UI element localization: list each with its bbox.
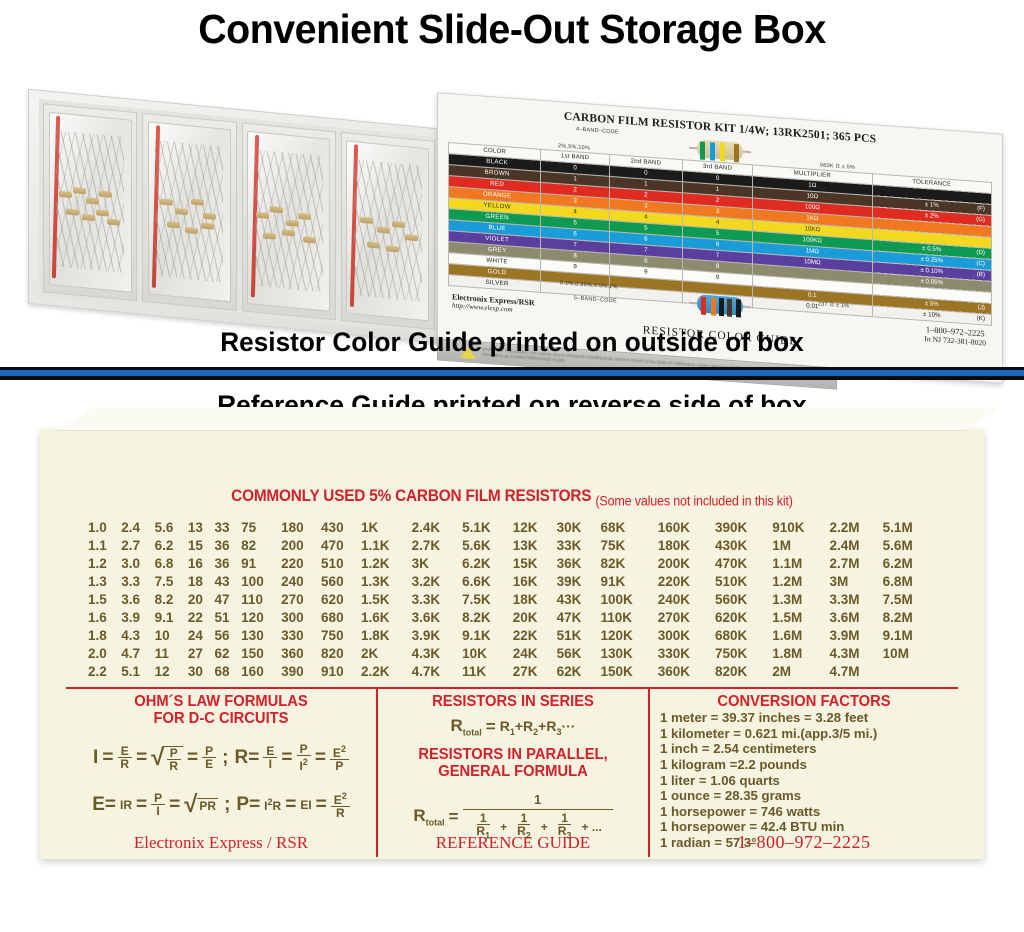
box-top-edge — [56, 407, 1002, 431]
resistor-value: 22K — [513, 626, 557, 644]
resistor-value: 1.8K — [361, 626, 412, 644]
resistor-value: 1.6M — [772, 626, 829, 644]
conversion-item: 1 horsepower = 746 watts — [660, 804, 950, 820]
series-title: RESISTORS IN SERIES — [392, 693, 633, 710]
value-row: 1.33.37.518431002405601.3K3.2K6.6K16K39K… — [88, 572, 936, 590]
row-tolerance-letter: (B) — [977, 270, 985, 281]
resistor-value: 43 — [215, 572, 242, 590]
resistor-value: 13 — [188, 518, 215, 536]
resistor-value: 300 — [281, 608, 321, 626]
row-tolerance-letter: (C) — [976, 259, 985, 270]
resistor-value: 3K — [412, 554, 463, 572]
resistor-value: 430K — [715, 536, 772, 554]
value-row: 1.02.45.61333751804301K2.4K5.1K12K30K68K… — [88, 518, 936, 536]
resistor-value: 910K — [772, 518, 829, 536]
ohms-law-title-1: OHM´S LAW FORMULAS — [81, 693, 360, 710]
resistor-value: 2.4M — [829, 536, 882, 554]
resistor-value: 18K — [513, 590, 557, 608]
resistor-value: 4.7K — [412, 662, 463, 680]
resistor-value: 3.9K — [412, 626, 463, 644]
resistor-value: 4.7M — [829, 662, 882, 680]
resistor-value: 300K — [658, 626, 715, 644]
resistor-value: 20K — [513, 608, 557, 626]
row-tolerance-letter: (G) — [976, 215, 985, 226]
conversion-item: 1 meter = 39.37 inches = 3.28 feet — [660, 710, 950, 726]
resistor-value: 180K — [658, 536, 715, 554]
resistor-value: 2.2M — [829, 518, 882, 536]
resistor-value: 390 — [281, 662, 321, 680]
resistor-value: 1.1M — [772, 554, 829, 572]
conversions-list: 1 meter = 39.37 inches = 3.28 feet1 kilo… — [658, 710, 950, 850]
resistor-value: 3M — [829, 572, 882, 590]
resistor-value: 12 — [155, 662, 188, 680]
resistor-value: 2.4 — [121, 518, 154, 536]
conversion-item: 1 inch = 2.54 centimeters — [660, 741, 950, 757]
resistor-value: 3.2K — [412, 572, 463, 590]
resistor-value: 3.9 — [121, 608, 154, 626]
resistor-value: 200 — [281, 536, 321, 554]
resistor-value: 2.4K — [412, 518, 463, 536]
resistor-value: 1.1K — [361, 536, 412, 554]
parallel-title-2: GENERAL FORMULA — [392, 763, 633, 780]
resistor-value: 3.6 — [121, 590, 154, 608]
formula-panels: OHM´S LAW FORMULAS FOR D-C CIRCUITS I= E… — [66, 689, 958, 857]
resistor-value: 3.6K — [412, 608, 463, 626]
resistor-value: 160K — [658, 518, 715, 536]
row-tolerance-letter: (F) — [977, 204, 985, 215]
resistor-value: 3.6M — [829, 608, 882, 626]
resistor-value: 51 — [215, 608, 242, 626]
resistor-value: 1.0 — [88, 518, 121, 536]
resistor-value: 11K — [462, 662, 513, 680]
reference-title-main: COMMONLY USED 5% CARBON FILM RESISTORS — [231, 487, 591, 505]
resistor-value: 33 — [215, 518, 242, 536]
resistor-value: 1K — [361, 518, 412, 536]
resistor-cluster — [353, 213, 423, 268]
caption-top: Resistor Color Guide printed on outside … — [15, 327, 1008, 358]
conversions-title: CONVERSION FACTORS — [665, 693, 942, 710]
resistor-value: 330K — [658, 644, 715, 662]
resistor-value: 15 — [188, 536, 215, 554]
resistor-value: 120 — [241, 608, 281, 626]
resistor-value: 56K — [557, 644, 601, 662]
resistor-value: 6.8M — [883, 572, 936, 590]
resistor-value: 4.7 — [121, 644, 154, 662]
resistor-value: 6.2M — [883, 554, 936, 572]
resistor-value: 750 — [321, 626, 361, 644]
resistor-value: 2.7K — [412, 536, 463, 554]
resistor-value: 560K — [715, 590, 772, 608]
resistor-value: 2.7M — [829, 554, 882, 572]
resistor-value: 6.6K — [462, 572, 513, 590]
ohms-law-equation-2: E=IR= PI = √PR ; P=I2R=EI= E2R — [74, 790, 368, 819]
resistor-value: 9.1 — [155, 608, 188, 626]
resistor-value: 43K — [557, 590, 601, 608]
row-tolerance-letter: (D) — [976, 248, 985, 259]
resistor-value: 30 — [188, 662, 215, 680]
conversion-item: 1 ounce = 28.35 grams — [660, 788, 950, 804]
resistor-value: 2.7 — [121, 536, 154, 554]
resistor-value: 680K — [715, 626, 772, 644]
resistor-value: 240K — [658, 590, 715, 608]
resistor-4band-icon — [689, 137, 751, 164]
panel-ohms-law: OHM´S LAW FORMULAS FOR D-C CIRCUITS I= E… — [66, 689, 376, 857]
resistor-value: 390K — [715, 518, 772, 536]
resistor-value: 270 — [281, 590, 321, 608]
resistor-value: 91K — [601, 572, 658, 590]
resistor-value: 1M — [772, 536, 829, 554]
resistor-cluster — [254, 203, 324, 258]
value-row: 2.04.71127621503608202K4.3K10K24K56K130K… — [88, 644, 936, 662]
resistor-value: 12K — [513, 518, 557, 536]
storage-tray — [28, 89, 448, 344]
resistor-value: 36 — [215, 554, 242, 572]
tray-compartments — [39, 99, 439, 335]
ohms-law-equation-1: I= ER = √PR = PE ; R= EI = PI2 = E2P — [74, 743, 368, 772]
resistor-value: 91 — [241, 554, 281, 572]
conversion-item: 1 kilogram =2.2 pounds — [660, 757, 950, 773]
resistor-value: 47K — [557, 608, 601, 626]
resistor-value: 620 — [321, 590, 361, 608]
resistor-value: 39K — [557, 572, 601, 590]
resistor-value: 130 — [241, 626, 281, 644]
resistor-value: 820K — [715, 662, 772, 680]
conversion-item: 1 kilometer = 0.621 mi.(app.3/5 mi.) — [660, 726, 950, 742]
resistor-value: 150 — [241, 644, 281, 662]
value-row: 1.12.76.21536822004701.1K2.7K5.6K13K33K7… — [88, 536, 936, 554]
page-title: Convenient Slide-Out Storage Box — [20, 0, 1003, 53]
resistor-value: 9.1M — [883, 626, 936, 644]
resistor-value: 680 — [321, 608, 361, 626]
resistor-value: 9.1K — [462, 626, 513, 644]
resistor-value: 62 — [215, 644, 242, 662]
ohms-law-title-2: FOR D-C CIRCUITS — [81, 710, 360, 727]
resistor-value: 33K — [557, 536, 601, 554]
resistor-value: 75K — [601, 536, 658, 554]
resistor-value: 7.5K — [462, 590, 513, 608]
resistor-value: 27K — [513, 662, 557, 680]
resistor-value: 5.6 — [155, 518, 188, 536]
resistor-value: 3.9M — [829, 626, 882, 644]
resistor-value: 24K — [513, 644, 557, 662]
value-row: 1.84.31024561303307501.8K3.9K9.1K22K51K1… — [88, 626, 936, 644]
brand-name: Electronix Express/RSR http://www.elexp.… — [452, 292, 535, 315]
parallel-title-1: RESISTORS IN PARALLEL, — [392, 746, 633, 763]
resistor-value: 1.6 — [88, 608, 121, 626]
resistor-value: 47 — [215, 590, 242, 608]
resistor-value: 20 — [188, 590, 215, 608]
resistor-value: 27 — [188, 644, 215, 662]
resistor-value: 3.3 — [121, 572, 154, 590]
resistor-value: 1.8M — [772, 644, 829, 662]
conversion-item: 1 liter = 1.06 quarts — [660, 773, 950, 789]
resistor-value: 180 — [281, 518, 321, 536]
resistor-value: 68 — [215, 662, 242, 680]
resistor-value: 4.3M — [829, 644, 882, 662]
resistor-value: 1.5M — [772, 608, 829, 626]
resistor-value: 4.3 — [121, 626, 154, 644]
resistor-value: 910 — [321, 662, 361, 680]
resistor-value: 30K — [557, 518, 601, 536]
tray-compartment — [43, 103, 137, 301]
reference-title-note: (Some values not included in this kit) — [595, 493, 792, 508]
resistor-value: 2.2 — [88, 662, 121, 680]
four-band-code-label: 4–BAND–CODE — [576, 126, 619, 135]
resistor-value: 2M — [772, 662, 829, 680]
resistor-value: 360 — [281, 644, 321, 662]
resistor-value: 2K — [361, 644, 412, 662]
resistor-value — [883, 662, 936, 680]
resistor-value: 18 — [188, 572, 215, 590]
resistor-value: 430 — [321, 518, 361, 536]
resistor-cluster — [154, 193, 224, 248]
reference-guide-title: COMMONLY USED 5% CARBON FILM RESISTORS (… — [97, 487, 927, 508]
resistor-value: 2.0 — [88, 644, 121, 662]
resistor-value: 110 — [241, 590, 281, 608]
resistor-value: 1.5 — [88, 590, 121, 608]
resistor-value: 130K — [601, 644, 658, 662]
conversions-footer-phone: 1–800–972–2225 — [650, 832, 958, 853]
ohms-law-footer: Electronix Express / RSR — [66, 833, 376, 853]
resistor-value: 36 — [215, 536, 242, 554]
resistor-value: 22 — [188, 608, 215, 626]
resistor-value: 820 — [321, 644, 361, 662]
resistor-value: 100K — [601, 590, 658, 608]
parallel-footer: REFERENCE GUIDE — [378, 833, 648, 853]
resistor-value: 5.6M — [883, 536, 936, 554]
panel-series-parallel: RESISTORS IN SERIES Rtotal= R1+R2+R3··· … — [376, 689, 648, 857]
resistor-value: 150K — [601, 662, 658, 680]
resistor-value: 470K — [715, 554, 772, 572]
resistor-value: 3.3M — [829, 590, 882, 608]
tray-compartment — [341, 132, 435, 330]
resistor-value: 200K — [658, 554, 715, 572]
resistor-value: 270K — [658, 608, 715, 626]
resistor-value: 5.1 — [121, 662, 154, 680]
resistor-value: 330 — [281, 626, 321, 644]
resistor-value: 8.2K — [462, 608, 513, 626]
resistor-value: 6.8 — [155, 554, 188, 572]
resistor-value: 15K — [513, 554, 557, 572]
resistor-value: 1.5K — [361, 590, 412, 608]
series-formula: Rtotal= R1+R2+R3··· — [386, 716, 640, 737]
resistor-value: 10K — [462, 644, 513, 662]
tray-compartment — [242, 122, 336, 320]
resistor-cluster — [55, 184, 125, 239]
resistor-value: 100 — [241, 572, 281, 590]
resistor-value: 3.0 — [121, 554, 154, 572]
resistor-value: 1.2K — [361, 554, 412, 572]
resistor-value: 5.6K — [462, 536, 513, 554]
resistor-value: 75 — [241, 518, 281, 536]
resistor-value: 8.2M — [883, 608, 936, 626]
resistor-value: 5.1K — [462, 518, 513, 536]
value-row: 2.25.11230681603909102.2K4.7K11K27K62K15… — [88, 662, 936, 680]
resistor-value: 1.8 — [88, 626, 121, 644]
resistor-value: 82 — [241, 536, 281, 554]
resistor-value: 220 — [281, 554, 321, 572]
resistor-value: 470 — [321, 536, 361, 554]
panel-conversions: CONVERSION FACTORS 1 meter = 39.37 inche… — [648, 689, 958, 857]
resistor-value: 51K — [557, 626, 601, 644]
tray-compartment — [142, 113, 236, 311]
resistor-value: 5.1M — [883, 518, 936, 536]
resistor-value: 6.2K — [462, 554, 513, 572]
resistor-value: 7.5 — [155, 572, 188, 590]
value-row: 1.53.68.220471102706201.5K3.3K7.5K18K43K… — [88, 590, 936, 608]
resistor-value: 110K — [601, 608, 658, 626]
resistor-value: 120K — [601, 626, 658, 644]
resistor-value: 1.2M — [772, 572, 829, 590]
resistor-value: 560 — [321, 572, 361, 590]
resistor-value: 1.2 — [88, 554, 121, 572]
resistor-value: 160 — [241, 662, 281, 680]
resistor-value: 1.3 — [88, 572, 121, 590]
resistor-value: 56 — [215, 626, 242, 644]
resistor-value: 10M — [883, 644, 936, 662]
resistor-value: 62K — [557, 662, 601, 680]
reference-guide-box: COMMONLY USED 5% CARBON FILM RESISTORS (… — [40, 429, 984, 859]
resistor-value: 3.3K — [412, 590, 463, 608]
resistor-value: 68K — [601, 518, 658, 536]
resistor-value: 620K — [715, 608, 772, 626]
resistor-value: 16 — [188, 554, 215, 572]
section-divider — [0, 367, 1024, 380]
resistor-value: 24 — [188, 626, 215, 644]
resistor-value: 750K — [715, 644, 772, 662]
resistor-value: 7.5M — [883, 590, 936, 608]
resistor-value: 36K — [557, 554, 601, 572]
resistor-values-table: 1.02.45.61333751804301K2.4K5.1K12K30K68K… — [88, 518, 936, 680]
resistor-value: 360K — [658, 662, 715, 680]
product-photo-top: CARBON FILM RESISTOR KIT 1/4W; 13RK2501;… — [0, 57, 1024, 327]
resistor-value: 1.1 — [88, 536, 121, 554]
resistor-value: 10 — [155, 626, 188, 644]
resistor-value: 510 — [321, 554, 361, 572]
resistor-value: 16K — [513, 572, 557, 590]
value-row: 1.63.99.122511203006801.6K3.6K8.2K20K47K… — [88, 608, 936, 626]
resistor-value: 240 — [281, 572, 321, 590]
resistor-value: 4.3K — [412, 644, 463, 662]
values-body: 1.02.45.61333751804301K2.4K5.1K12K30K68K… — [88, 518, 936, 680]
resistor-value: 82K — [601, 554, 658, 572]
value-row: 1.23.06.81636912205101.2K3K6.2K15K36K82K… — [88, 554, 936, 572]
resistor-value: 510K — [715, 572, 772, 590]
resistor-value: 220K — [658, 572, 715, 590]
resistor-value: 1.3K — [361, 572, 412, 590]
resistor-value: 13K — [513, 536, 557, 554]
resistor-value: 1.6K — [361, 608, 412, 626]
resistor-value: 2.2K — [361, 662, 412, 680]
resistor-value: 8.2 — [155, 590, 188, 608]
resistor-value: 11 — [155, 644, 188, 662]
resistor-value: 6.2 — [155, 536, 188, 554]
resistor-value: 1.3M — [772, 590, 829, 608]
